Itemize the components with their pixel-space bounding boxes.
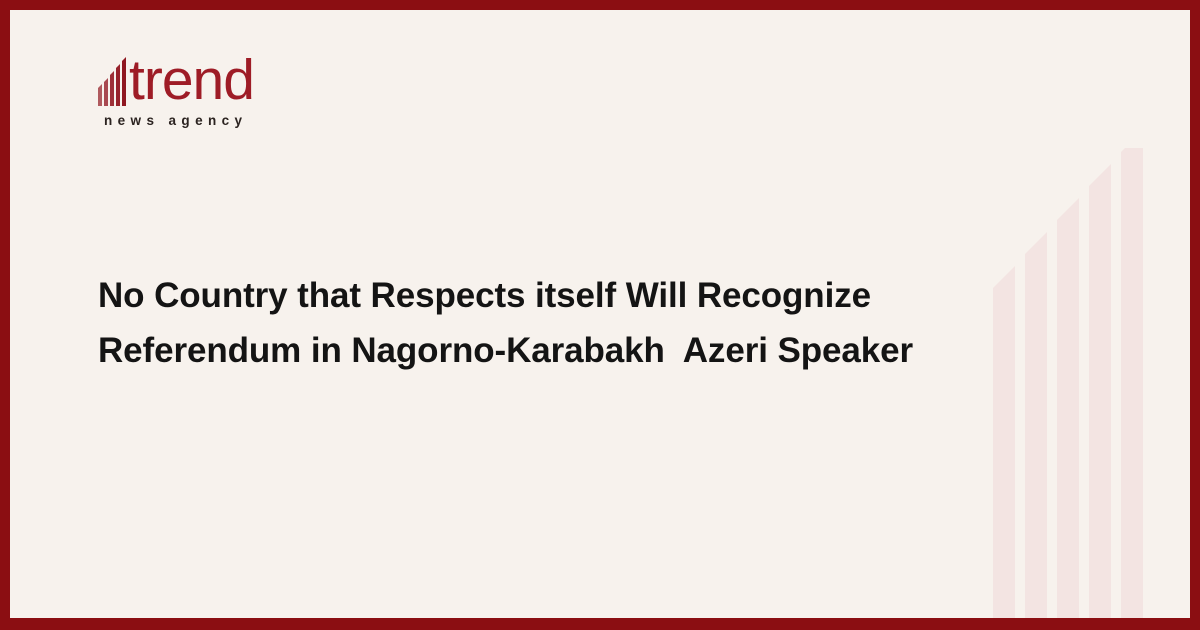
logo-wordmark-row: trend [98,48,318,106]
logo-tagline: news agency [104,113,318,128]
share-card: trend news agency No Country that Respec… [0,0,1200,630]
logo-wordmark: trend [129,54,254,106]
ascending-bars-icon [98,54,128,106]
headline-text: No Country that Respects itself Will Rec… [98,268,998,378]
brand-logo[interactable]: trend news agency [98,48,318,128]
card-content-area: trend news agency No Country that Respec… [10,10,1190,618]
ascending-bars-watermark [985,148,1185,618]
